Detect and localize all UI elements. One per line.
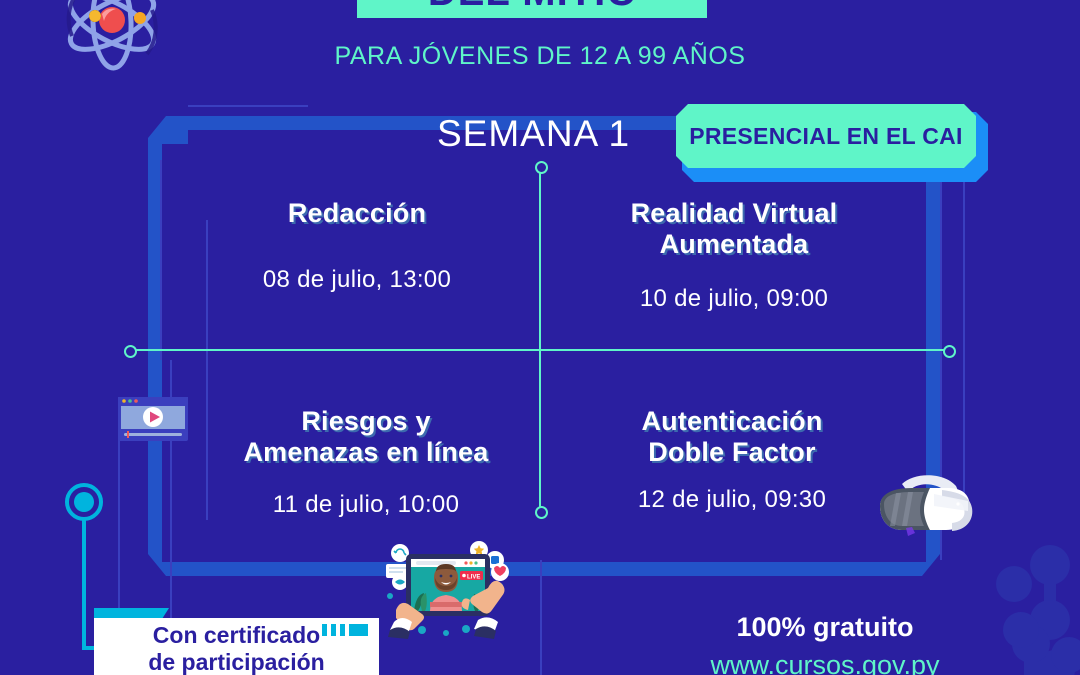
- video-player-icon: [118, 397, 188, 446]
- left-bracket-frame-decoration: [148, 116, 188, 576]
- website-url[interactable]: www.cursos.gov.py: [660, 650, 990, 675]
- course-title-riesgos-line1: Riesgos y: [226, 406, 506, 437]
- course-date-riesgos: 11 de julio, 10:00: [226, 491, 506, 519]
- course-date-redaccion: 08 de julio, 13:00: [217, 266, 497, 294]
- course-title-autenticacion-line1: Autenticación: [592, 406, 872, 437]
- poster-canvas: DEL MITIC PARA JÓVENES DE 12 A 99 AÑOS S…: [0, 0, 1080, 675]
- course-date-autenticacion: 12 de julio, 09:30: [592, 486, 872, 514]
- certificate-line-2: de participación: [94, 649, 379, 675]
- title-banner-text: DEL MITIC: [428, 0, 636, 15]
- course-title-redaccion: Redacción: [217, 198, 497, 229]
- course-title-realidad-virtual-line2: Aumentada: [594, 229, 874, 260]
- bracket-bottom-rail: [178, 562, 918, 576]
- course-title-riesgos-line2: Amenazas en línea: [226, 437, 506, 468]
- certificate-line-1: Con certificado: [94, 622, 379, 649]
- vr-headset-icon: [872, 470, 977, 547]
- free-label: 100% gratuito: [660, 612, 990, 643]
- badge-face: PRESENCIAL EN EL CAI: [676, 104, 976, 168]
- atom-icon: [52, 0, 172, 80]
- course-title-realidad-virtual-line1: Realidad Virtual: [594, 198, 874, 229]
- badge-label: PRESENCIAL EN EL CAI: [689, 123, 963, 150]
- course-title-autenticacion-line2: Doble Factor: [592, 437, 872, 468]
- timeline-node-bottom: [535, 506, 548, 519]
- title-banner: DEL MITIC: [357, 0, 707, 18]
- timeline-vertical-line: [539, 166, 541, 511]
- certificate-text: Con certificado de participación: [94, 622, 379, 675]
- timeline-node-left: [124, 345, 137, 358]
- timeline-node-right: [943, 345, 956, 358]
- certificate-card: Con certificado de participación: [94, 608, 379, 675]
- course-date-realidad-virtual: 10 de julio, 09:00: [594, 285, 874, 313]
- week-label: SEMANA 1: [437, 113, 630, 155]
- live-badge-text: LIVE: [467, 575, 480, 581]
- timeline-node-top: [535, 161, 548, 174]
- presencial-badge[interactable]: PRESENCIAL EN EL CAI: [676, 104, 988, 182]
- video-call-tablet-icon: LIVE: [378, 534, 518, 644]
